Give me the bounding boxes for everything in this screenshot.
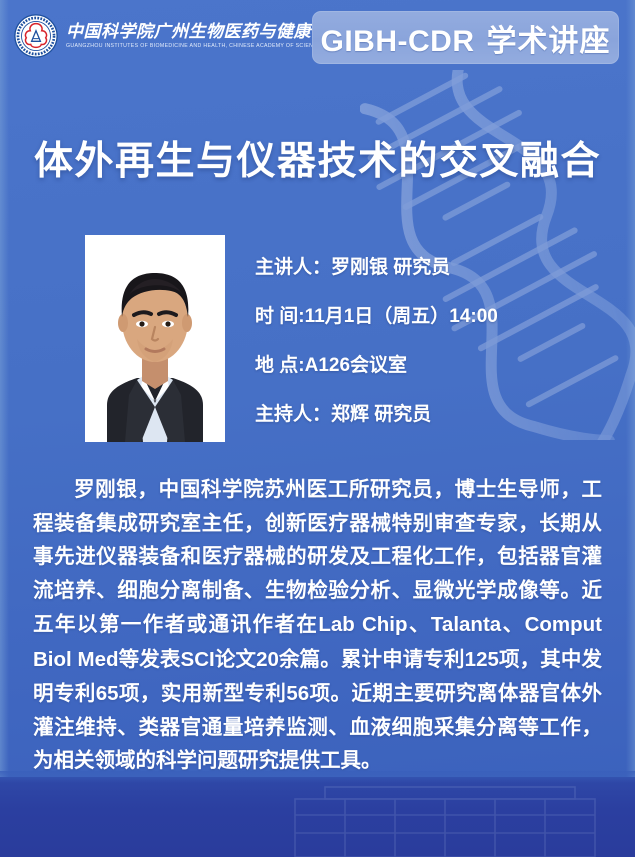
speaker-portrait [85,235,225,442]
building-watermark-icon [285,785,615,857]
bio-part-6: 项，实用新型专利 [119,683,287,705]
journal-1: Lab Chip [318,613,407,636]
series-code: GIBH-CDR [321,25,475,58]
bio-part-4: 余篇。累计申请专利 [279,649,465,671]
cas-gibh-emblem-icon [14,14,58,58]
utility-patent-count: 56 [286,682,309,705]
journal-2: Talanta [431,613,501,636]
bio-part-2: 等发表 [119,649,181,671]
time-line: 时 间:11月1日（周五）14:00 [255,307,625,326]
background-edge-right [626,0,635,857]
lecture-series-banner: GIBH-CDR学术讲座 [312,11,619,64]
bio-part-3: 论文 [215,649,256,671]
sci-label: SCI [181,648,215,671]
bio-separator-2: 、 [501,614,524,636]
location-line: 地 点:A126会议室 [255,356,625,375]
poster-header: 中国科学院广州生物医药与健康研究院 GUANGZHOU INSTITUTES O… [0,0,635,76]
bio-separator-1: 、 [408,614,431,636]
seminar-poster: 中国科学院广州生物医药与健康研究院 GUANGZHOU INSTITUTES O… [0,0,635,857]
invention-patent-count: 65 [96,682,119,705]
patent-total-count: 125 [465,648,499,671]
lecture-details: 主讲人：罗刚银 研究员 时 间:11月1日（周五）14:00 地 点:A126会… [255,258,625,424]
host-line: 主持人：郑辉 研究员 [255,405,625,424]
poster-footer-band [0,777,635,857]
speaker-biography: 罗刚银，中国科学院苏州医工所研究员，博士生导师，工程装备集成研究室主任，创新医疗… [33,474,602,779]
poster-title: 体外再生与仪器技术的交叉融合 [0,130,635,186]
speaker-portrait-image [85,235,225,442]
background-edge-left [0,0,9,857]
lecture-series-label: GIBH-CDR学术讲座 [321,16,611,60]
paper-count: 20 [256,648,279,671]
series-name: 学术讲座 [487,25,611,58]
speaker-line: 主讲人：罗刚银 研究员 [255,258,625,277]
